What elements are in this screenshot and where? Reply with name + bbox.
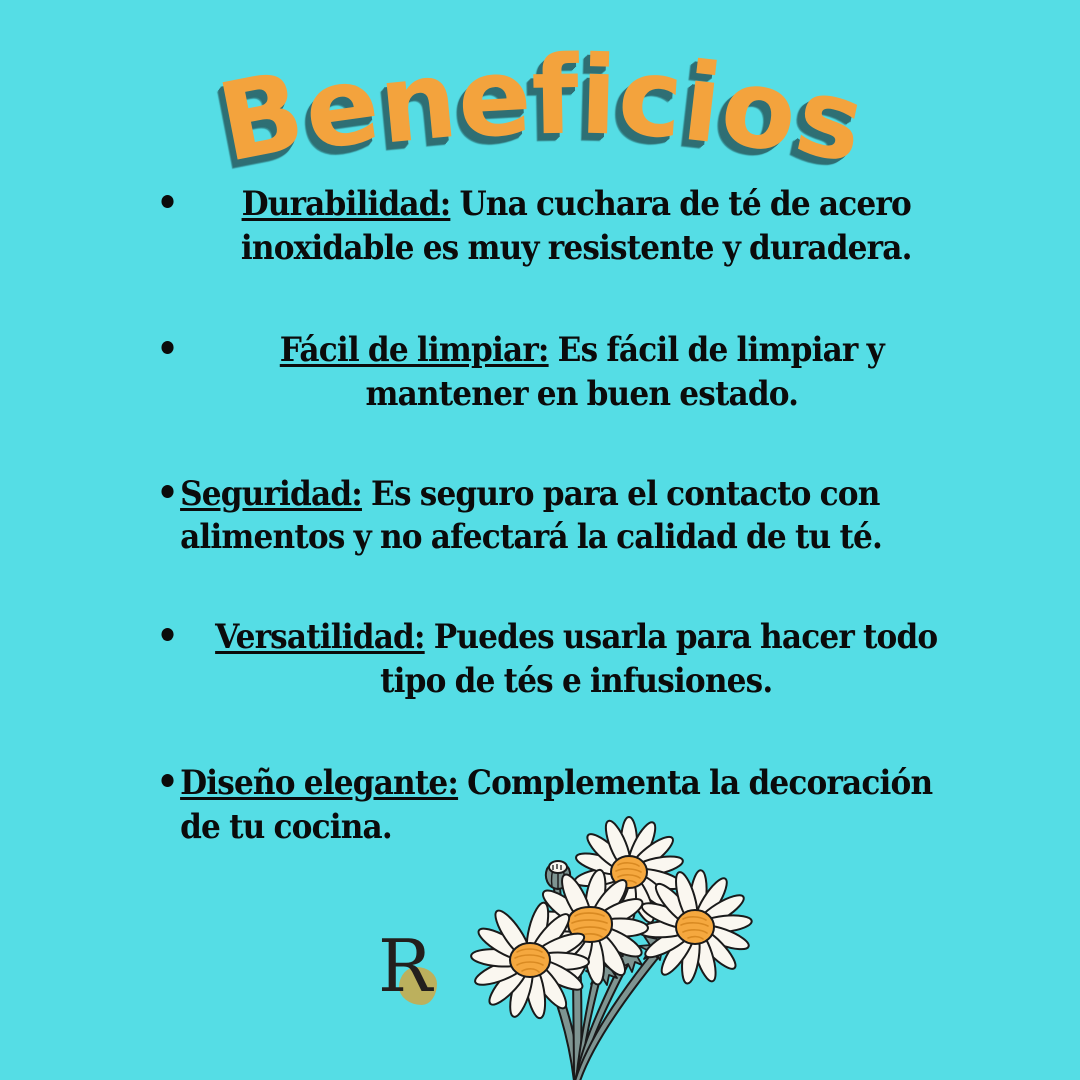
title-area: B e n e f i c i o s [0, 44, 1080, 174]
benefit-term: Diseño elegante: [180, 763, 458, 802]
list-item: Fácil de limpiar: Es fácil de limpiar y … [150, 328, 955, 416]
title-char: c [615, 42, 685, 156]
benefit-term: Durabilidad: [242, 184, 451, 223]
title-char: f [531, 42, 578, 153]
benefits-list: Durabilidad: Una cuchara de té de acero … [120, 182, 986, 849]
list-item: Seguridad: Es seguro para el contacto co… [150, 472, 955, 560]
list-item: Durabilidad: Una cuchara de té de acero … [150, 182, 955, 270]
list-item: Versatilidad: Puedes usarla para hacer t… [150, 615, 955, 703]
poster-canvas: B e n e f i c i o s Durabilidad: Una cuc… [0, 0, 1080, 1080]
benefit-term: Versatilidad: [215, 617, 425, 656]
page-title: B e n e f i c i o s [235, 44, 844, 174]
benefit-term: Fácil de limpiar: [280, 330, 549, 369]
title-char: s [788, 60, 872, 181]
title-char: B [211, 57, 311, 180]
benefit-term: Seguridad: [180, 474, 362, 513]
bullet-dot-icon [161, 774, 173, 787]
bullet-dot-icon [161, 628, 173, 641]
bullet-dot-icon [161, 485, 173, 498]
title-char: i [579, 42, 617, 153]
brand-logo: R [378, 934, 444, 1012]
title-char: n [374, 45, 459, 162]
bullet-dot-icon [161, 195, 173, 208]
logo-letter: R [378, 930, 432, 1002]
bullet-dot-icon [161, 341, 173, 354]
benefit-description: Puedes usarla para hacer todo tipo de té… [380, 617, 937, 700]
title-char: e [298, 49, 384, 168]
title-char: e [455, 42, 532, 156]
daisy-bouquet-illustration [470, 815, 780, 1080]
